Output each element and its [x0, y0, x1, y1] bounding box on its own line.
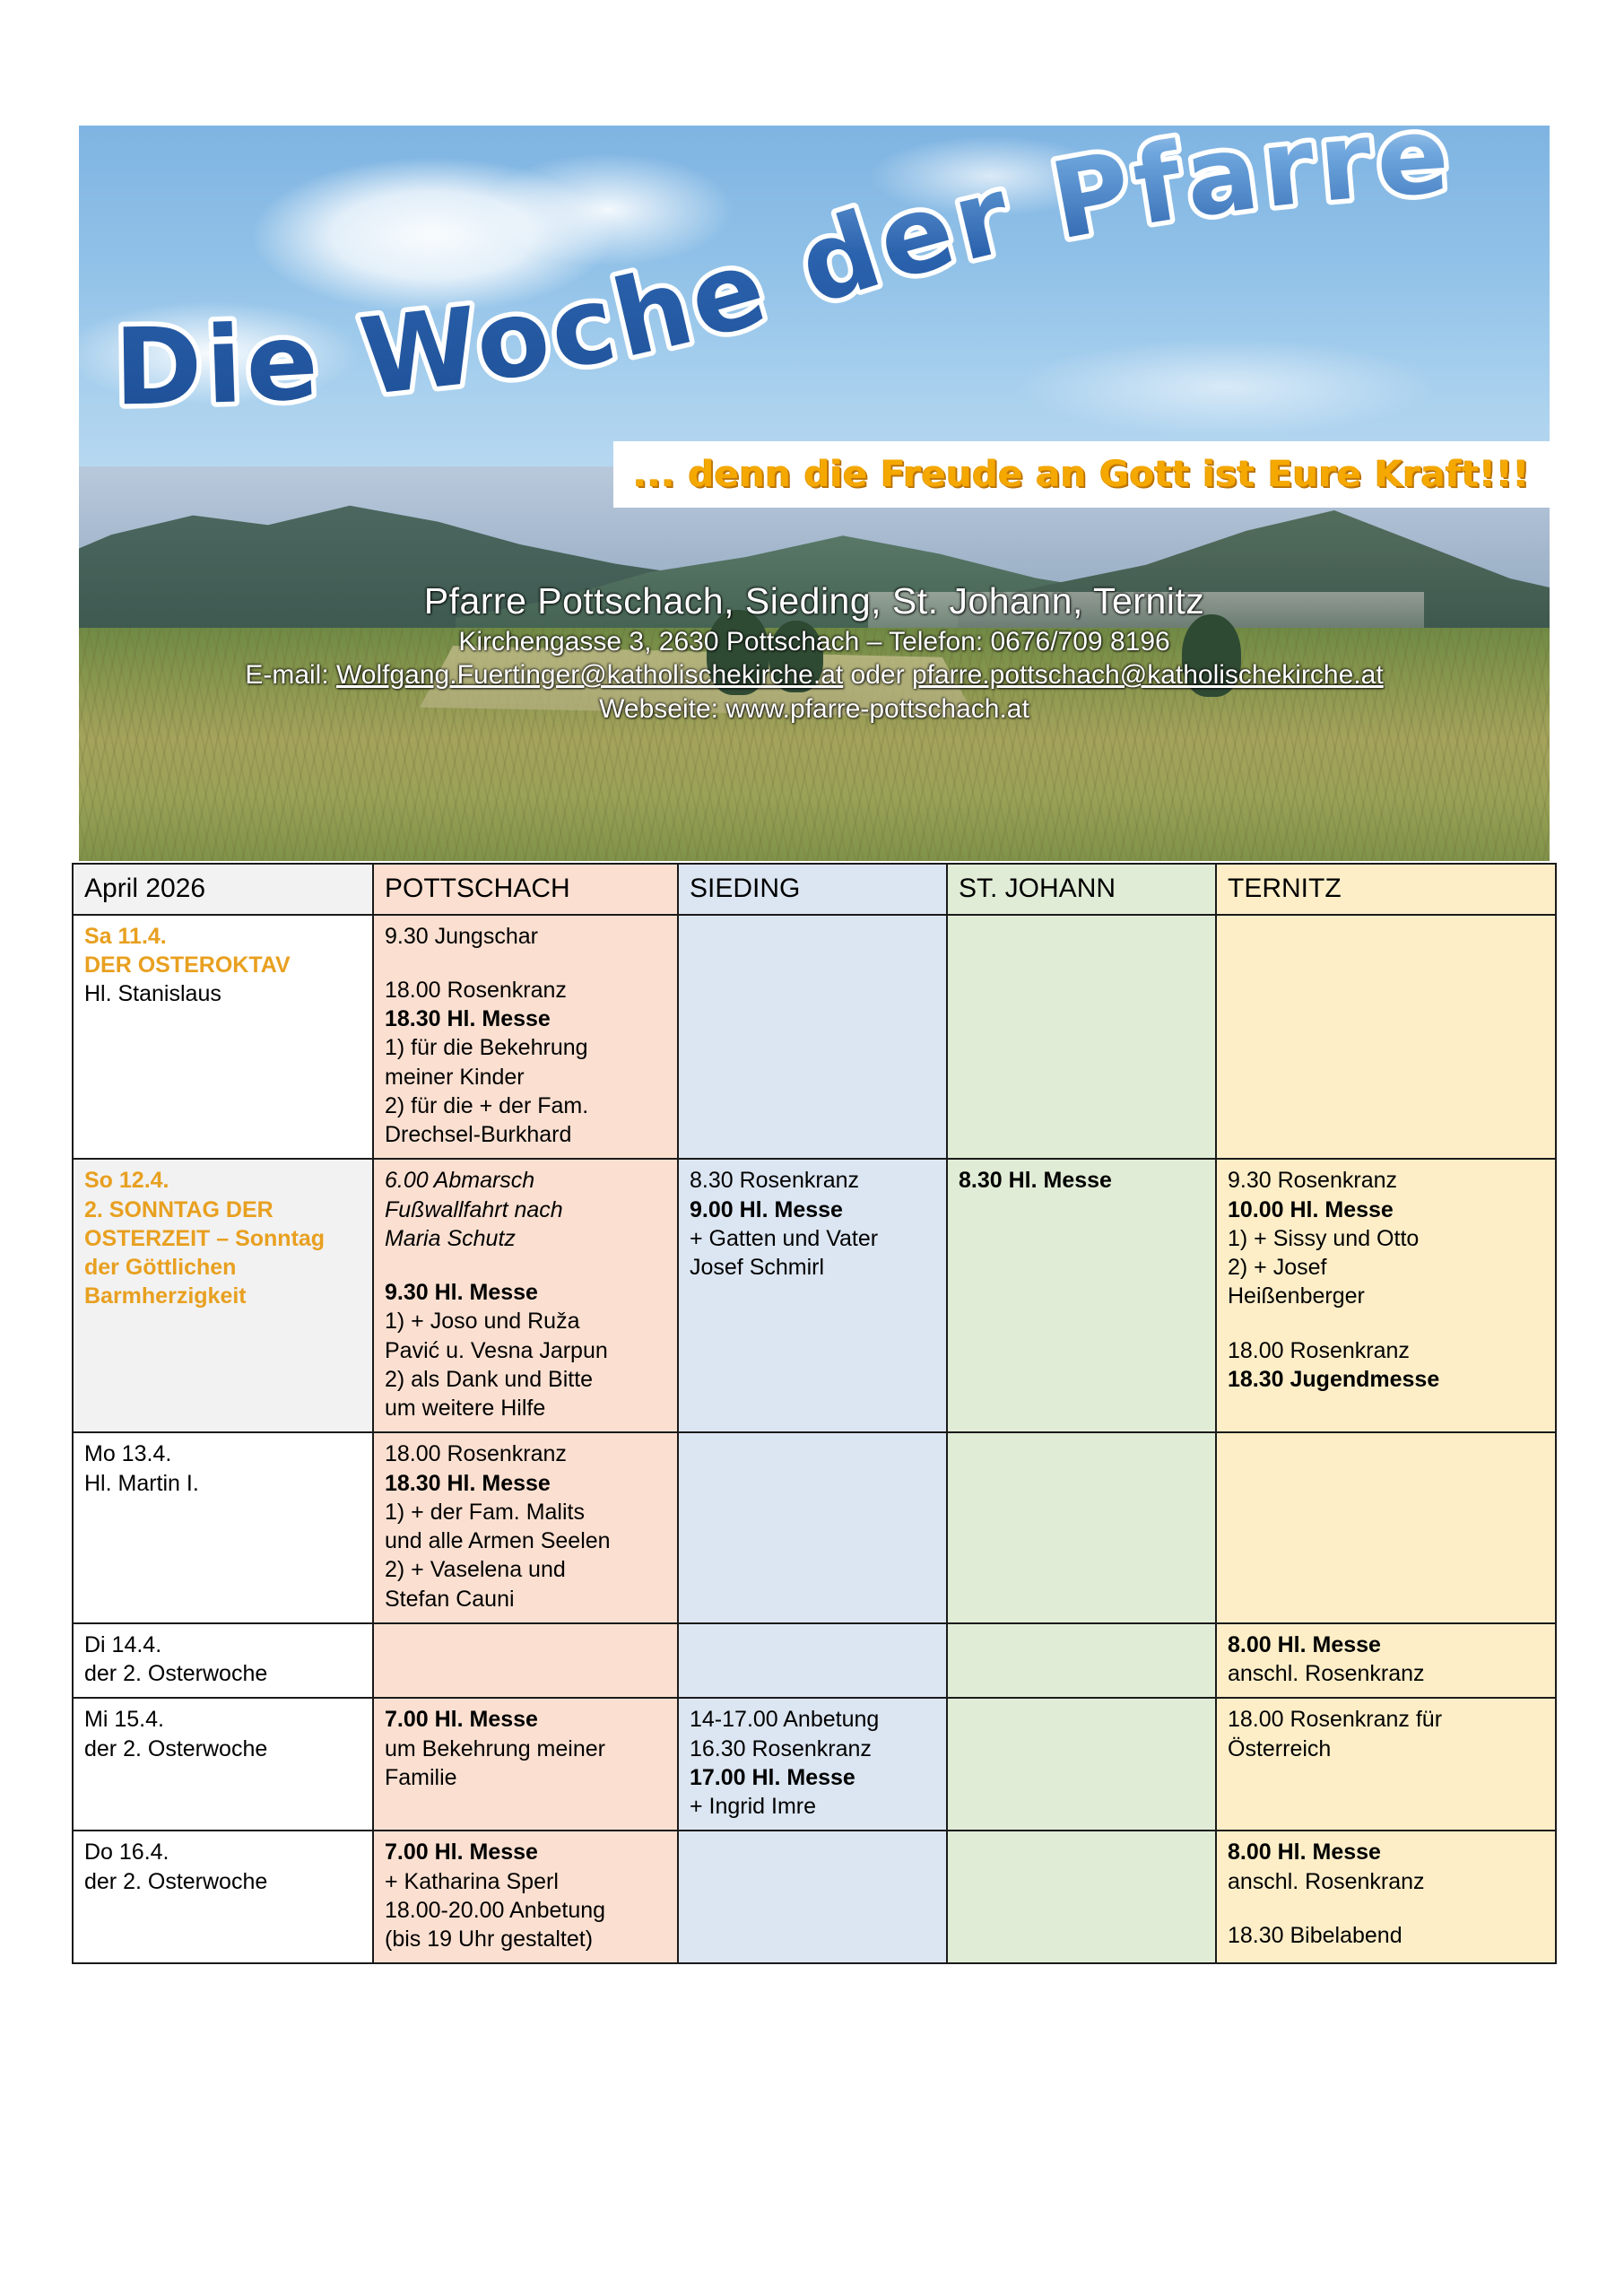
cell-ternitz: 8.00 Hl. Messeanschl. Rosenkranz18.30 Bi…: [1216, 1831, 1556, 1963]
schedule-entry-line: 10.00 Hl. Messe: [1228, 1196, 1546, 1224]
schedule-entry-line: Fußwallfahrt nach: [385, 1196, 668, 1224]
schedule-entry-line: 18.00 Rosenkranz: [385, 1439, 668, 1468]
date-plain-line: Hl. Stanislaus: [84, 979, 363, 1008]
schedule-entry-line: meiner Kinder: [385, 1063, 668, 1091]
column-header-st-johann: ST. JOHANN: [947, 864, 1216, 915]
schedule-entry-line: Maria Schutz: [385, 1224, 668, 1253]
schedule-entry-line: 2) + Josef: [1228, 1253, 1546, 1282]
date-plain-line: der 2. Osterwoche: [84, 1659, 363, 1688]
cell-st-johann: [947, 915, 1216, 1160]
date-plain-line: Do 16.4.: [84, 1838, 363, 1866]
cell-date: So 12.4.2. SONNTAG DEROSTERZEIT – Sonnta…: [73, 1159, 373, 1432]
date-highlight-line: Sa 11.4.: [84, 922, 363, 951]
schedule-entry-line: 17.00 Hl. Messe: [690, 1763, 937, 1792]
schedule-entry-line: um weitere Hilfe: [385, 1394, 668, 1422]
cell-ternitz: 18.00 Rosenkranz fürÖsterreich: [1216, 1698, 1556, 1831]
cell-st-johann: [947, 1432, 1216, 1623]
schedule-entry-line: 8.00 Hl. Messe: [1228, 1838, 1546, 1866]
cell-pottschach: 7.00 Hl. Messeum Bekehrung meinerFamilie: [373, 1698, 678, 1831]
column-header-ternitz: TERNITZ: [1216, 864, 1556, 915]
cell-date: Di 14.4.der 2. Osterwoche: [73, 1623, 373, 1699]
schedule-entry-line: Österreich: [1228, 1735, 1546, 1763]
schedule-entry-line: 8.30 Hl. Messe: [959, 1166, 1206, 1195]
schedule-entry-line: 1) für die Bekehrung: [385, 1033, 668, 1062]
schedule-entry-line: um Bekehrung meiner: [385, 1735, 668, 1763]
email-link-priest[interactable]: Wolfgang.Fuertinger@katholischekirche.at: [336, 660, 843, 690]
header-banner-photo: Die Woche der Pfarre Die Woche der Pfarr…: [79, 126, 1550, 861]
entry-spacer: [385, 1253, 668, 1278]
schedule-entry-line: 9.00 Hl. Messe: [690, 1196, 937, 1224]
parish-website: Webseite: www.pfarre-pottschach.at: [79, 692, 1550, 726]
cell-sieding: 8.30 Rosenkranz9.00 Hl. Messe+ Gatten un…: [678, 1159, 947, 1432]
column-header-sieding: SIEDING: [678, 864, 947, 915]
schedule-entry-line: 2) als Dank und Bitte: [385, 1365, 668, 1394]
date-highlight-line: DER OSTEROKTAV: [84, 951, 363, 979]
schedule-entry-line: 18.00 Rosenkranz: [385, 976, 668, 1004]
schedule-entry-line: 9.30 Rosenkranz: [1228, 1166, 1546, 1195]
parish-name: Pfarre Pottschach, Sieding, St. Johann, …: [79, 578, 1550, 625]
cell-sieding: 14-17.00 Anbetung16.30 Rosenkranz17.00 H…: [678, 1698, 947, 1831]
slogan-strip: ... denn die Freude an Gott ist Eure Kra…: [613, 441, 1550, 508]
entry-spacer: [1228, 1896, 1546, 1921]
email-link-parish[interactable]: pfarre.pottschach@katholischekirche.at: [912, 660, 1384, 690]
cell-st-johann: 8.30 Hl. Messe: [947, 1159, 1216, 1432]
table-row: Do 16.4.der 2. Osterwoche 7.00 Hl. Messe…: [73, 1831, 1556, 1963]
cell-date: Mi 15.4.der 2. Osterwoche: [73, 1698, 373, 1831]
date-highlight-line: der Göttlichen: [84, 1253, 363, 1282]
column-header-pottschach: POTTSCHACH: [373, 864, 678, 915]
table-row: Di 14.4.der 2. Osterwoche 8.00 Hl. Messe…: [73, 1623, 1556, 1699]
date-plain-line: Mi 15.4.: [84, 1705, 363, 1734]
schedule-entry-line: 9.30 Hl. Messe: [385, 1278, 668, 1307]
entry-spacer: [1228, 1311, 1546, 1336]
table-row: Mo 13.4.Hl. Martin I. 18.00 Rosenkranz18…: [73, 1432, 1556, 1623]
cell-sieding: [678, 1432, 947, 1623]
schedule-entry-line: 1) + Joso und Ruža: [385, 1307, 668, 1335]
schedule-entry-line: Josef Schmirl: [690, 1253, 937, 1282]
schedule-entry-line: und alle Armen Seelen: [385, 1526, 668, 1555]
schedule-entry-line: Stefan Cauni: [385, 1585, 668, 1613]
entry-spacer: [385, 951, 668, 976]
schedule-entry-line: Drechsel-Burkhard: [385, 1120, 668, 1149]
table-row: Sa 11.4.DER OSTEROKTAVHl. Stanislaus 9.3…: [73, 915, 1556, 1160]
date-highlight-line: Barmherzigkeit: [84, 1282, 363, 1310]
date-plain-line: Hl. Martin I.: [84, 1469, 363, 1498]
cell-ternitz: [1216, 915, 1556, 1160]
cell-st-johann: [947, 1831, 1216, 1963]
schedule-entry-line: 18.30 Hl. Messe: [385, 1004, 668, 1033]
cell-ternitz: [1216, 1432, 1556, 1623]
schedule-entry-line: Familie: [385, 1763, 668, 1792]
cell-ternitz: 9.30 Rosenkranz10.00 Hl. Messe1) + Sissy…: [1216, 1159, 1556, 1432]
mass-schedule-table: April 2026 POTTSCHACH SIEDING ST. JOHANN…: [72, 863, 1557, 1964]
schedule-entry-line: 7.00 Hl. Messe: [385, 1838, 668, 1866]
cell-st-johann: [947, 1623, 1216, 1699]
cell-sieding: [678, 915, 947, 1160]
schedule-entry-line: Pavić u. Vesna Jarpun: [385, 1336, 668, 1365]
schedule-entry-line: anschl. Rosenkranz: [1228, 1659, 1546, 1688]
parish-email-line: E-mail: Wolfgang.Fuertinger@katholischek…: [79, 658, 1550, 692]
schedule-entry-line: 14-17.00 Anbetung: [690, 1705, 937, 1734]
cell-pottschach: 6.00 AbmarschFußwallfahrt nachMaria Schu…: [373, 1159, 678, 1432]
date-highlight-line: 2. SONNTAG DER: [84, 1196, 363, 1224]
schedule-entry-line: + Katharina Sperl: [385, 1867, 668, 1896]
date-plain-line: der 2. Osterwoche: [84, 1735, 363, 1763]
date-highlight-line: OSTERZEIT – Sonntag: [84, 1224, 363, 1253]
date-highlight-line: So 12.4.: [84, 1166, 363, 1195]
schedule-entry-line: 18.00 Rosenkranz für: [1228, 1705, 1546, 1734]
email-separator: oder: [843, 660, 912, 690]
schedule-entry-line: 8.30 Rosenkranz: [690, 1166, 937, 1195]
table-row: Mi 15.4.der 2. Osterwoche 7.00 Hl. Messe…: [73, 1698, 1556, 1831]
schedule-entry-line: 7.00 Hl. Messe: [385, 1705, 668, 1734]
schedule-entry-line: anschl. Rosenkranz: [1228, 1867, 1546, 1896]
schedule-entry-line: 18.30 Hl. Messe: [385, 1469, 668, 1498]
cell-pottschach: 7.00 Hl. Messe+ Katharina Sperl18.00-20.…: [373, 1831, 678, 1963]
cell-date: Mo 13.4.Hl. Martin I.: [73, 1432, 373, 1623]
schedule-entry-line: 1) + Sissy und Otto: [1228, 1224, 1546, 1253]
slogan-text: ... denn die Freude an Gott ist Eure Kra…: [633, 454, 1530, 495]
schedule-entry-line: 18.00-20.00 Anbetung: [385, 1896, 668, 1925]
cell-pottschach: 9.30 Jungschar18.00 Rosenkranz18.30 Hl. …: [373, 915, 678, 1160]
newsletter-page: Die Woche der Pfarre Die Woche der Pfarr…: [0, 0, 1624, 2296]
cell-date: Do 16.4.der 2. Osterwoche: [73, 1831, 373, 1963]
schedule-entry-line: 9.30 Jungschar: [385, 922, 668, 951]
cell-sieding: [678, 1623, 947, 1699]
schedule-entry-line: + Gatten und Vater: [690, 1224, 937, 1253]
parish-contact-block: Pfarre Pottschach, Sieding, St. Johann, …: [79, 578, 1550, 726]
schedule-table-wrapper: April 2026 POTTSCHACH SIEDING ST. JOHANN…: [72, 863, 1555, 1964]
schedule-entry-line: 8.00 Hl. Messe: [1228, 1631, 1546, 1659]
column-header-date: April 2026: [73, 864, 373, 915]
schedule-entry-line: (bis 19 Uhr gestaltet): [385, 1925, 668, 1953]
schedule-entry-line: Heißenberger: [1228, 1282, 1546, 1310]
date-plain-line: der 2. Osterwoche: [84, 1867, 363, 1896]
schedule-entry-line: 2) für die + der Fam.: [385, 1091, 668, 1120]
cell-pottschach: [373, 1623, 678, 1699]
date-plain-line: Di 14.4.: [84, 1631, 363, 1659]
schedule-entry-line: 2) + Vaselena und: [385, 1555, 668, 1584]
cell-sieding: [678, 1831, 947, 1963]
cell-pottschach: 18.00 Rosenkranz18.30 Hl. Messe1) + der …: [373, 1432, 678, 1623]
schedule-entry-line: 1) + der Fam. Malits: [385, 1498, 668, 1526]
schedule-entry-line: 18.00 Rosenkranz: [1228, 1336, 1546, 1365]
cell-date: Sa 11.4.DER OSTEROKTAVHl. Stanislaus: [73, 915, 373, 1160]
schedule-entry-line: 18.30 Jugendmesse: [1228, 1365, 1546, 1394]
table-row: So 12.4.2. SONNTAG DEROSTERZEIT – Sonnta…: [73, 1159, 1556, 1432]
date-plain-line: Mo 13.4.: [84, 1439, 363, 1468]
schedule-entry-line: 16.30 Rosenkranz: [690, 1735, 937, 1763]
schedule-entry-line: 18.30 Bibelabend: [1228, 1921, 1546, 1950]
schedule-entry-line: + Ingrid Imre: [690, 1792, 937, 1821]
email-label: E-mail:: [245, 660, 336, 690]
parish-address: Kirchengasse 3, 2630 Pottschach – Telefo…: [79, 625, 1550, 659]
cell-ternitz: 8.00 Hl. Messeanschl. Rosenkranz: [1216, 1623, 1556, 1699]
schedule-entry-line: 6.00 Abmarsch: [385, 1166, 668, 1195]
cell-st-johann: [947, 1698, 1216, 1831]
table-header-row: April 2026 POTTSCHACH SIEDING ST. JOHANN…: [73, 864, 1556, 915]
